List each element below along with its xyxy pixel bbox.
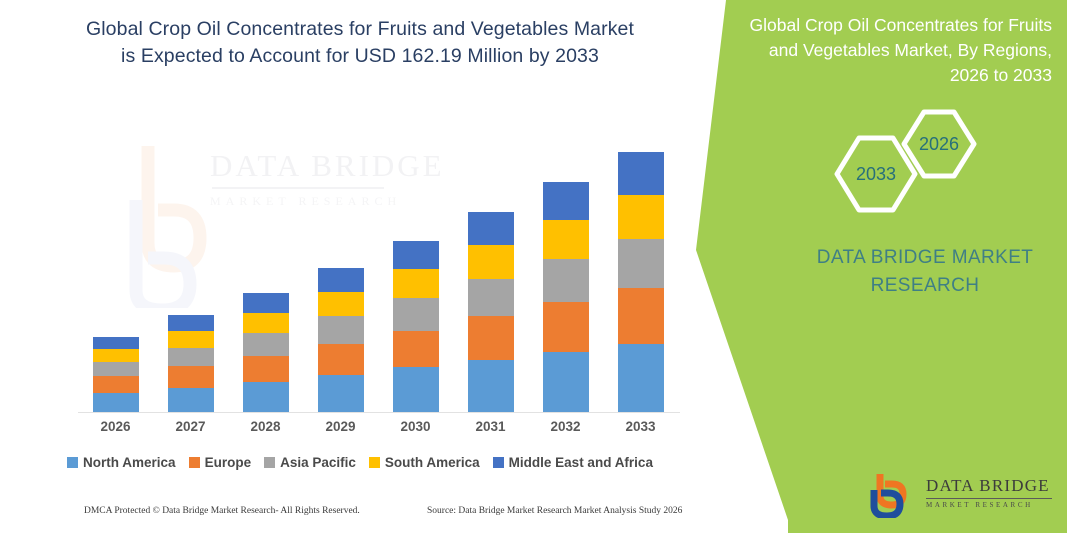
bar-segment bbox=[618, 344, 664, 413]
legend-swatch-icon bbox=[189, 457, 200, 468]
bar-segment bbox=[393, 367, 439, 413]
bar-segment bbox=[393, 331, 439, 368]
brand-name: DATA BRIDGE MARKET RESEARCH bbox=[790, 244, 1060, 300]
x-axis-line bbox=[78, 412, 680, 413]
bar-segment bbox=[468, 212, 514, 245]
bar-segment bbox=[393, 241, 439, 270]
side-panel-title-line-1: Global Crop Oil Concentrates for Fruits bbox=[722, 13, 1052, 38]
bar-column bbox=[93, 337, 139, 413]
bar-segment bbox=[93, 376, 139, 393]
bar-segment bbox=[618, 288, 664, 344]
x-axis-label: 2029 bbox=[306, 419, 376, 434]
bar-segment bbox=[543, 182, 589, 220]
bar-segment bbox=[543, 352, 589, 413]
hexagon-end-year-label: 2033 bbox=[856, 164, 896, 185]
x-axis-label: 2030 bbox=[381, 419, 451, 434]
bar-segment bbox=[243, 356, 289, 382]
bar-segment bbox=[318, 292, 364, 317]
bar-column bbox=[468, 212, 514, 413]
bar-segment bbox=[543, 259, 589, 302]
legend-item[interactable]: Europe bbox=[189, 455, 252, 470]
legend-item[interactable]: Asia Pacific bbox=[264, 455, 356, 470]
page-title: Global Crop Oil Concentrates for Fruits … bbox=[40, 16, 680, 70]
legend-swatch-icon bbox=[264, 457, 275, 468]
bar-segment bbox=[543, 220, 589, 259]
x-axis-label: 2032 bbox=[531, 419, 601, 434]
x-axis-label: 2026 bbox=[81, 419, 151, 434]
logo-divider bbox=[926, 498, 1052, 499]
bar-column bbox=[168, 315, 214, 413]
stacked-bar-plot bbox=[78, 110, 678, 413]
legend-label: Asia Pacific bbox=[280, 455, 356, 470]
bar-segment bbox=[243, 333, 289, 355]
bar-segment bbox=[318, 344, 364, 375]
bar-segment bbox=[318, 268, 364, 291]
bar-segment bbox=[93, 349, 139, 362]
bar-segment bbox=[318, 316, 364, 343]
legend-item[interactable]: South America bbox=[369, 455, 480, 470]
logo-wordmark: DATA BRIDGE MARKET RESEARCH bbox=[926, 476, 1054, 509]
footer-source: Source: Data Bridge Market Research Mark… bbox=[427, 506, 682, 516]
legend-label: North America bbox=[83, 455, 176, 470]
x-axis-label: 2031 bbox=[456, 419, 526, 434]
page-title-line-1: Global Crop Oil Concentrates for Fruits … bbox=[40, 16, 680, 43]
brand-name-line-1: DATA BRIDGE MARKET bbox=[790, 244, 1060, 272]
bar-segment bbox=[168, 348, 214, 366]
bar-segment bbox=[93, 337, 139, 349]
legend-label: South America bbox=[385, 455, 480, 470]
legend-swatch-icon bbox=[369, 457, 380, 468]
side-panel-title-line-3: 2026 to 2033 bbox=[722, 63, 1052, 88]
bar-segment bbox=[168, 315, 214, 331]
bar-segment bbox=[243, 293, 289, 313]
bar-segment bbox=[168, 366, 214, 388]
legend-item[interactable]: Middle East and Africa bbox=[493, 455, 653, 470]
legend-label: Europe bbox=[205, 455, 252, 470]
bar-segment bbox=[93, 393, 139, 413]
side-panel-title: Global Crop Oil Concentrates for Fruits … bbox=[722, 13, 1052, 88]
bar-segment bbox=[618, 195, 664, 239]
bar-segment bbox=[393, 298, 439, 331]
legend-label: Middle East and Africa bbox=[509, 455, 653, 470]
legend-swatch-icon bbox=[493, 457, 504, 468]
hexagon-end-year: 2033 bbox=[833, 134, 919, 214]
x-axis-tick-labels: 20262027202820292030203120322033 bbox=[78, 419, 678, 441]
hexagon-start-year-label: 2026 bbox=[919, 134, 959, 155]
bar-segment bbox=[93, 362, 139, 376]
chart-panel: Global Crop Oil Concentrates for Fruits … bbox=[0, 0, 720, 533]
bar-segment bbox=[468, 279, 514, 317]
legend-item[interactable]: North America bbox=[67, 455, 176, 470]
side-panel-title-line-2: and Vegetables Market, By Regions, bbox=[722, 38, 1052, 63]
brand-name-line-2: RESEARCH bbox=[790, 272, 1060, 300]
footer-copyright: DMCA Protected © Data Bridge Market Rese… bbox=[84, 506, 360, 516]
data-bridge-logo-icon bbox=[868, 472, 920, 518]
legend-swatch-icon bbox=[67, 457, 78, 468]
bar-segment bbox=[243, 382, 289, 413]
chart-legend: North AmericaEuropeAsia PacificSouth Ame… bbox=[0, 455, 720, 470]
bar-column bbox=[543, 182, 589, 413]
bar-segment bbox=[243, 313, 289, 334]
bar-segment bbox=[468, 245, 514, 279]
bar-segment bbox=[393, 269, 439, 298]
bar-segment bbox=[618, 152, 664, 195]
bar-column bbox=[243, 293, 289, 413]
x-axis-label: 2033 bbox=[606, 419, 676, 434]
x-axis-label: 2028 bbox=[231, 419, 301, 434]
bar-segment bbox=[468, 316, 514, 359]
bar-column bbox=[618, 152, 664, 413]
bar-segment bbox=[543, 302, 589, 352]
bar-column bbox=[393, 241, 439, 413]
bar-segment bbox=[468, 360, 514, 414]
market-report-infographic: Global Crop Oil Concentrates for Fruits … bbox=[0, 0, 1067, 533]
bar-segment bbox=[318, 375, 364, 413]
logo-sub-text: MARKET RESEARCH bbox=[926, 501, 1054, 509]
logo-main-text: DATA BRIDGE bbox=[926, 476, 1054, 496]
company-logo: DATA BRIDGE MARKET RESEARCH bbox=[868, 472, 1054, 518]
bar-segment bbox=[168, 388, 214, 413]
bar-segment bbox=[618, 239, 664, 287]
bar-column bbox=[318, 268, 364, 413]
bar-segment bbox=[168, 331, 214, 348]
page-title-line-2: is Expected to Account for USD 162.19 Mi… bbox=[40, 43, 680, 70]
x-axis-label: 2027 bbox=[156, 419, 226, 434]
